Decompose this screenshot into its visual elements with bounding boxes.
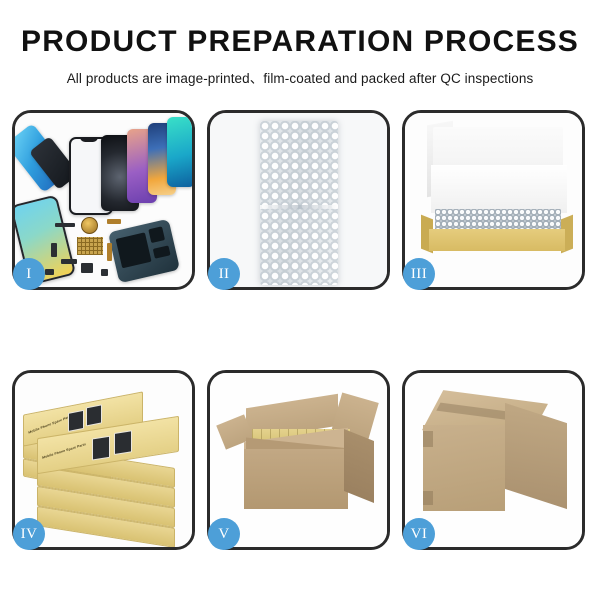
step-badge-4: IV <box>13 518 45 550</box>
inner-bubble-wrap-icon <box>435 209 561 231</box>
speaker-coil-icon <box>81 217 98 234</box>
part-speaker-icon <box>81 263 93 273</box>
circuit-board-icon <box>77 237 103 255</box>
foam-sheet-icon <box>431 165 567 213</box>
part-camera-icon <box>51 243 57 257</box>
bubble-wrap-seam <box>260 205 338 209</box>
part-connector-icon <box>55 223 75 227</box>
step-panel-2: II <box>207 110 390 290</box>
step-2-illustration <box>210 113 387 287</box>
kraft-box-front-wall <box>429 229 565 251</box>
page-title: PRODUCT PREPARATION PROCESS <box>0 26 600 58</box>
step-panel-1: I <box>12 110 195 290</box>
step-badge-2: II <box>208 258 240 290</box>
step-4-illustration: Mobile Phone Spare Parts Mobile Phone Sp… <box>15 373 192 547</box>
part-sim-tray-icon <box>45 269 54 275</box>
step-badge-6: VI <box>403 518 435 550</box>
phone-teal-icon <box>167 117 192 187</box>
carton-tab-upper <box>423 431 433 447</box>
step-panel-6: VI <box>402 370 585 550</box>
box-screen-image-3 <box>92 436 110 461</box>
carton-side-face <box>344 429 374 503</box>
part-strip-icon <box>107 243 112 261</box>
step-1-illustration <box>15 113 192 287</box>
step-badge-3: III <box>403 258 435 290</box>
steps-grid: I II III <box>12 110 590 550</box>
sealed-carton-front <box>423 425 505 511</box>
carton-tab-lower <box>423 491 433 505</box>
phone-disassembled-back-icon <box>108 219 180 284</box>
carton-front-face <box>244 449 348 509</box>
part-button-icon <box>101 269 108 276</box>
header: PRODUCT PREPARATION PROCESS All products… <box>0 0 600 87</box>
step-panel-5: V <box>207 370 390 550</box>
step-badge-1: I <box>13 258 45 290</box>
box-label-rear: Mobile Phone Spare Parts <box>28 414 72 435</box>
step-6-illustration <box>405 373 582 547</box>
product-preparation-infographic: PRODUCT PREPARATION PROCESS All products… <box>0 0 600 600</box>
page-subtitle: All products are image-printed、film-coat… <box>0 67 600 87</box>
box-screen-image-2 <box>86 404 102 426</box>
sealed-carton-side <box>505 403 567 509</box>
box-screen-image-4 <box>114 430 132 455</box>
step-5-illustration <box>210 373 387 547</box>
box-label-front: Mobile Phone Spare Parts <box>42 442 86 460</box>
part-chip-icon <box>107 219 121 224</box>
step-panel-4: Mobile Phone Spare Parts Mobile Phone Sp… <box>12 370 195 550</box>
step-badge-5: V <box>208 518 240 550</box>
step-3-illustration <box>405 113 582 287</box>
step-panel-3: III <box>402 110 585 290</box>
part-flex-cable-icon <box>61 259 77 264</box>
bubble-wrap-icon <box>260 121 338 285</box>
box-screen-image-1 <box>68 410 84 432</box>
